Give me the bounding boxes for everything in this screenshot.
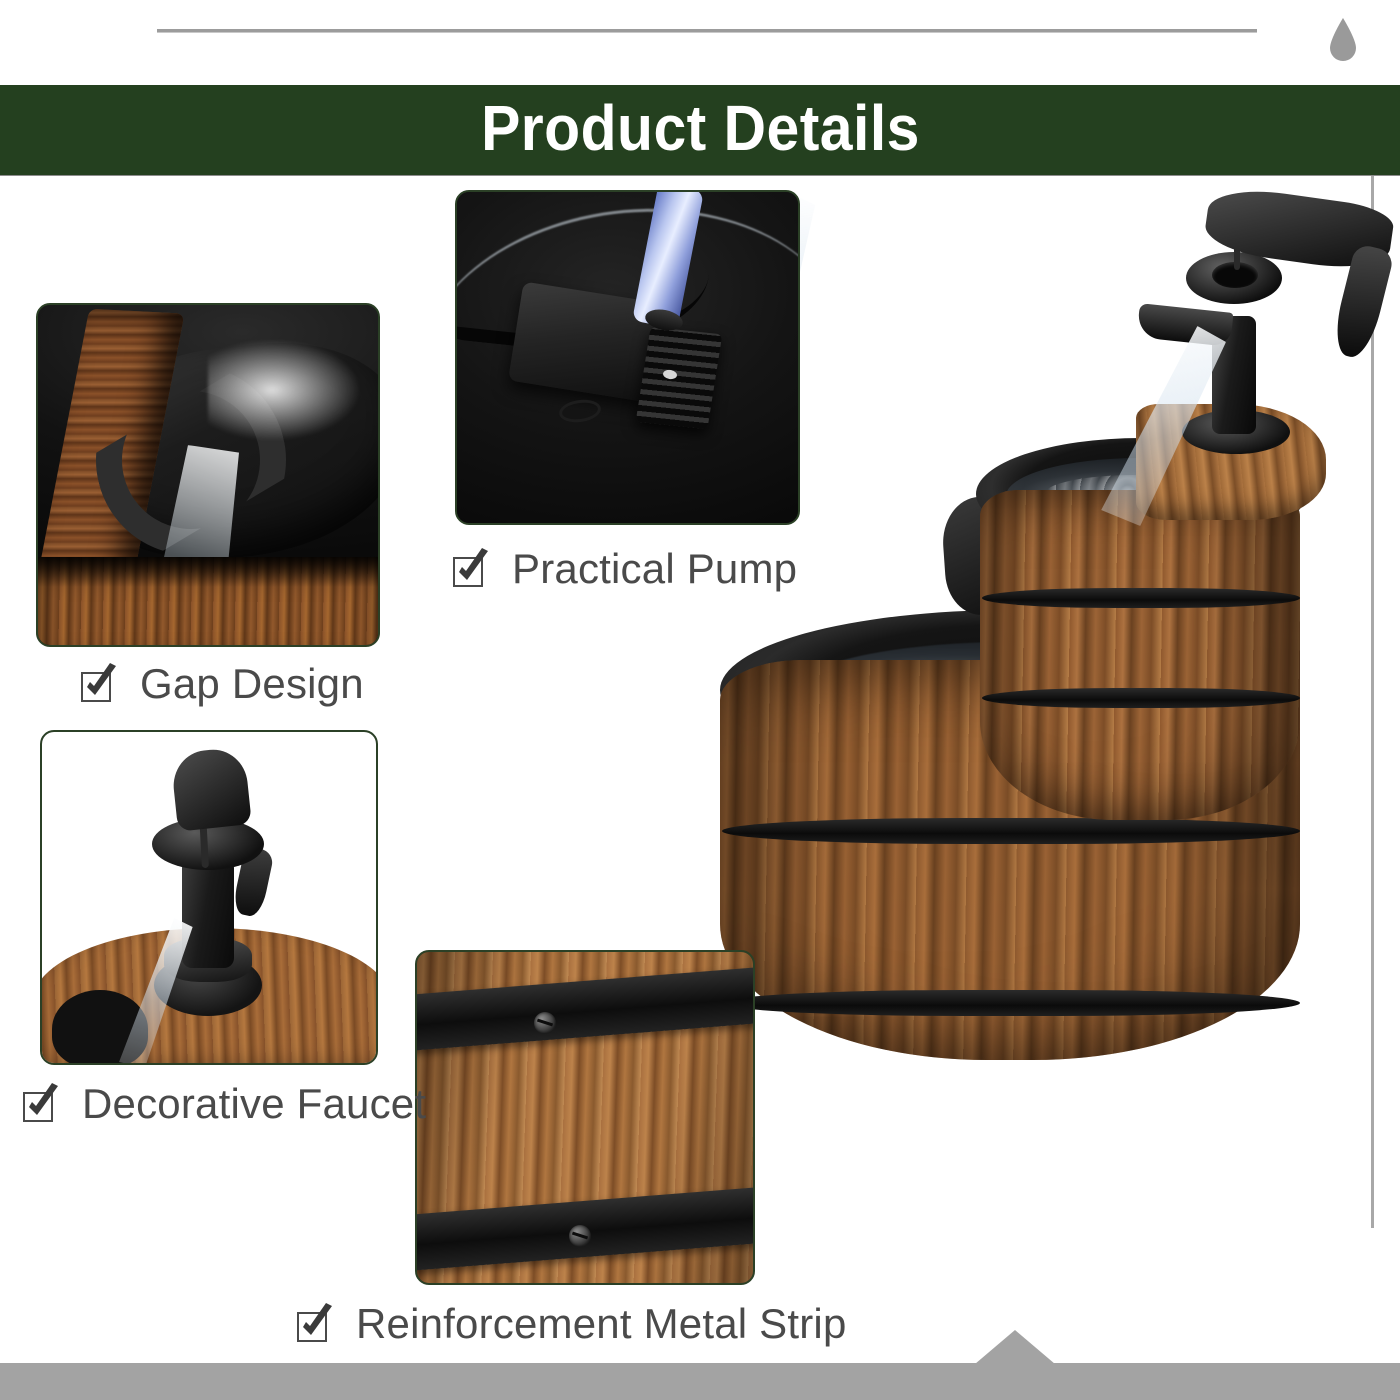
up-arrow-notch-icon (975, 1330, 1055, 1364)
caption-label: Reinforcement Metal Strip (356, 1300, 847, 1348)
strip-screw-bottom (569, 1225, 591, 1247)
checked-checkbox-icon (296, 1307, 330, 1341)
strip-screw-top (534, 1012, 556, 1034)
caption-label: Practical Pump (512, 545, 797, 593)
upper-barrel-metal-band-top (982, 588, 1300, 608)
gap-wood-bottom (38, 557, 380, 647)
lower-barrel-metal-band-bottom (722, 990, 1300, 1016)
thumbnail-gap-design (36, 303, 380, 647)
checked-checkbox-icon (22, 1087, 56, 1121)
thumbnail-decorative-faucet (40, 730, 378, 1065)
product-details-banner: Product Details (0, 85, 1400, 176)
top-divider-rule (157, 29, 1257, 33)
water-droplet-icon (1328, 17, 1358, 63)
page-title: Product Details (481, 96, 920, 164)
caption-label: Decorative Faucet (82, 1080, 426, 1128)
product-details-page: Product Details (0, 0, 1400, 1400)
fountain-illustration (700, 190, 1400, 1200)
caption-gap-design: Gap Design (80, 660, 364, 708)
pump-intake-grill (636, 327, 723, 429)
caption-decorative-faucet: Decorative Faucet (22, 1080, 426, 1128)
upper-barrel-body (980, 490, 1300, 820)
page-footer-band (0, 1363, 1400, 1400)
checked-checkbox-icon (80, 667, 114, 701)
checked-checkbox-icon (452, 552, 486, 586)
hero-product-image (700, 190, 1400, 1200)
upper-barrel-metal-band-bottom (982, 688, 1300, 708)
lower-barrel-metal-band-top (722, 818, 1300, 844)
faucet-column (182, 858, 234, 968)
caption-label: Gap Design (140, 660, 364, 708)
caption-practical-pump: Practical Pump (452, 545, 797, 593)
thumbnail-practical-pump (455, 190, 800, 525)
gap-water-splash (208, 335, 368, 445)
thumbnail-reinforcement-metal-strip (415, 950, 755, 1285)
caption-reinforcement-metal-strip: Reinforcement Metal Strip (296, 1300, 847, 1348)
